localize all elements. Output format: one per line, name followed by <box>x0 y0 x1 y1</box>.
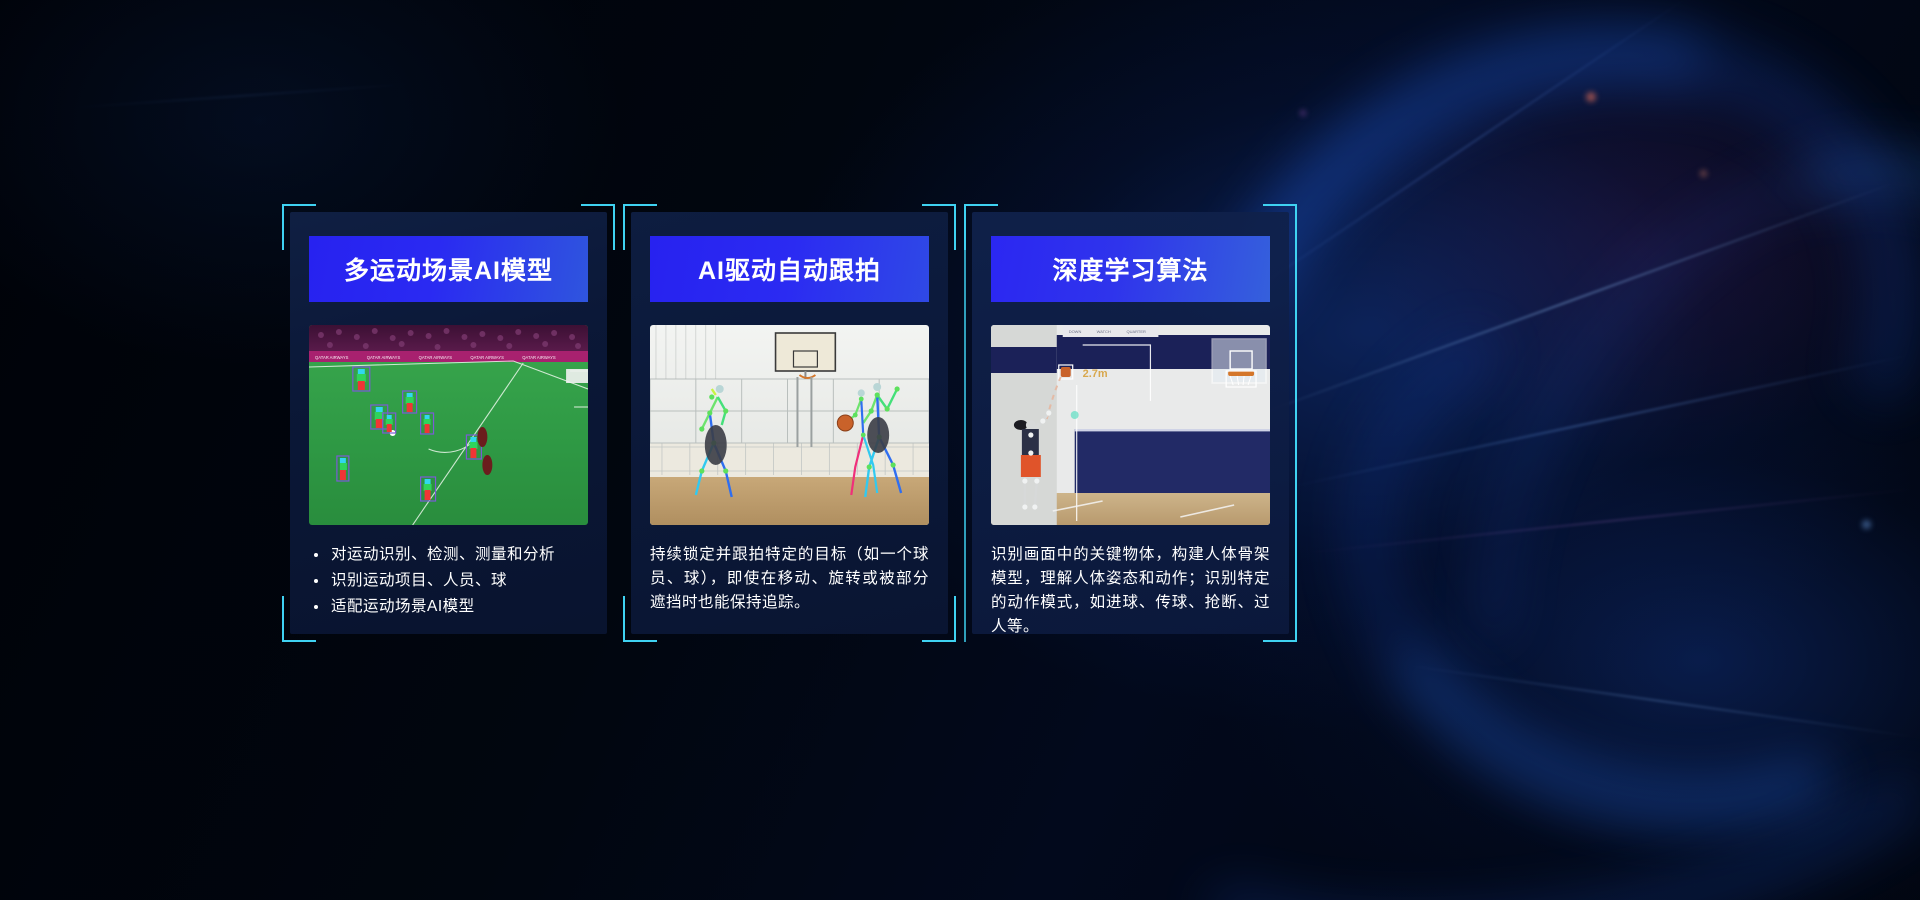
background-light-streak <box>1287 353 1913 488</box>
slide-canvas: 多运动场景AI模型 <box>0 0 1920 900</box>
background-ribbon-glow <box>1281 222 1920 898</box>
background-spark <box>1586 92 1596 102</box>
feature-card-deep-learning-algorithm[interactable]: 深度学习算法 DO <box>972 212 1289 634</box>
indoor-basketball-pose-thumbnail <box>650 325 929 525</box>
card-title: 多运动场景AI模型 <box>309 236 588 302</box>
card-description: 持续锁定并跟拍特定的目标（如一个球员、球），即使在移动、旋转或被部分遮挡时也能保… <box>650 543 929 615</box>
svg-text:QATAR AIRWAYS: QATAR AIRWAYS <box>315 355 349 360</box>
svg-text:DOWN: DOWN <box>1069 329 1082 334</box>
svg-text:QATAR AIRWAYS: QATAR AIRWAYS <box>522 355 556 360</box>
soccer-detection-thumbnail: QATAR AIRWAYSQATAR AIRWAYS QATAR AIRWAYS… <box>309 325 588 525</box>
distance-label: 2.7m <box>1083 368 1108 380</box>
background-spark <box>1300 110 1306 116</box>
feature-card-ai-auto-tracking[interactable]: AI驱动自动跟拍 <box>631 212 948 634</box>
background-light-streak <box>1302 488 1919 555</box>
feature-bullet-list: 对运动识别、检测、测量和分析 识别运动项目、人员、球 适配运动场景AI模型 <box>309 543 588 619</box>
svg-text:QUARTER: QUARTER <box>1127 329 1146 334</box>
card-body: 对运动识别、检测、测量和分析 识别运动项目、人员、球 适配运动场景AI模型 <box>309 543 588 619</box>
background-spark <box>1700 170 1707 177</box>
list-item: 适配运动场景AI模型 <box>309 595 588 619</box>
background-spark <box>1862 520 1871 529</box>
feature-card-multi-sport-ai-model[interactable]: 多运动场景AI模型 <box>290 212 607 634</box>
card-title: AI驱动自动跟拍 <box>650 236 929 302</box>
basketball-shot-analysis-thumbnail: DOWNWATCHQUARTER <box>991 325 1270 525</box>
background-light-streak <box>1241 180 1899 421</box>
svg-text:QATAR AIRWAYS: QATAR AIRWAYS <box>470 355 504 360</box>
svg-text:WATCH: WATCH <box>1097 329 1111 334</box>
card-description: 识别画面中的关键物体，构建人体骨架模型，理解人体姿态和动作；识别特定的动作模式，… <box>991 543 1270 639</box>
card-left-edge-line <box>964 204 966 642</box>
background-light-streak <box>60 82 419 109</box>
background-light-streak <box>1227 0 1692 308</box>
card-title: 深度学习算法 <box>991 236 1270 302</box>
card-body: 持续锁定并跟拍特定的目标（如一个球员、球），即使在移动、旋转或被部分遮挡时也能保… <box>650 543 929 615</box>
card-body: 识别画面中的关键物体，构建人体骨架模型，理解人体姿态和动作；识别特定的动作模式，… <box>991 543 1270 639</box>
list-item: 对运动识别、检测、测量和分析 <box>309 543 588 567</box>
background-light-streak <box>1402 664 1917 738</box>
svg-text:QATAR AIRWAYS: QATAR AIRWAYS <box>367 355 401 360</box>
svg-text:QATAR AIRWAYS: QATAR AIRWAYS <box>419 355 453 360</box>
card-right-edge-line <box>1295 204 1297 642</box>
list-item: 识别运动项目、人员、球 <box>309 569 588 593</box>
feature-card-group: 多运动场景AI模型 <box>290 212 1290 634</box>
background-ribbon-glow <box>1352 40 1920 900</box>
